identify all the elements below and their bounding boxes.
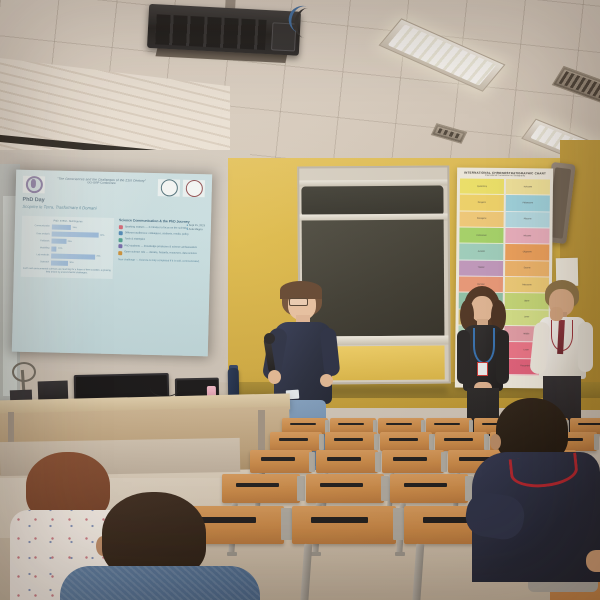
hair-top [280, 281, 322, 299]
hand-right [320, 374, 333, 387]
lanyard [473, 328, 495, 364]
audience-front-center [60, 492, 260, 600]
seat-desk-panel [292, 506, 396, 544]
seat-desk-slot [236, 483, 279, 488]
seat-desk-slot [311, 517, 368, 523]
seat-desk-panel [306, 474, 384, 503]
projector-body [147, 4, 301, 56]
denim-texture [60, 566, 260, 600]
seat-bracket [309, 452, 315, 472]
seat-bracket [441, 452, 447, 472]
poster-period-cell: Miocene [505, 228, 549, 245]
lecture-hall-photo: "The Geosciences and the Challenges of t… [0, 0, 600, 600]
seat-desk-slot [386, 423, 411, 426]
projection-screen: "The Geosciences and the Challenges of t… [12, 170, 212, 357]
hand [550, 307, 563, 321]
arm-left [457, 330, 470, 384]
seat-bracket [319, 434, 324, 450]
poster-period-cell: Cretaceous [459, 228, 503, 245]
ceiling-projector [147, 0, 310, 60]
ear [490, 434, 501, 450]
seat-desk-panel [390, 474, 468, 503]
poster-period-cell: Oligocene [505, 244, 549, 261]
poster-period-cell: Neogene [460, 195, 504, 212]
seat-desk-slot [261, 457, 295, 461]
hand-left [268, 370, 281, 384]
seat-bracket [381, 476, 389, 501]
arm-right [496, 330, 509, 384]
seat-bracket [375, 452, 381, 472]
hand [586, 550, 600, 572]
seat-desk-slot [290, 423, 315, 426]
seat-desk-slot [404, 483, 447, 488]
glasses-icon [289, 298, 308, 306]
seat-desk-slot [338, 423, 363, 426]
poster-period-cell: Triassic [459, 260, 503, 277]
arm-right [578, 322, 593, 372]
poster-period-cell: Eocene [505, 261, 549, 278]
chalkboard-panel-upper [301, 186, 443, 217]
seat-bracket [281, 508, 292, 540]
poster-period-cell: Pleistocene [506, 195, 550, 212]
seat-desk-panel [316, 450, 378, 473]
seat-desk-panel [270, 432, 322, 451]
audience-right [468, 398, 600, 600]
seat-desk-panel [325, 432, 377, 451]
seat-desk-slot [279, 438, 308, 441]
poster-period-cell: Holocene [506, 179, 550, 196]
seat-desk-panel [380, 432, 432, 451]
desk-cable [150, 378, 180, 397]
poster-period-cell: Quaternary [460, 179, 504, 196]
seat-desk-slot [434, 423, 459, 426]
poster-period-cell: Pliocene [506, 212, 550, 229]
poster-period-cell: Paleogene [460, 211, 504, 228]
screen-glare [12, 170, 212, 357]
seat-desk-slot [334, 438, 363, 441]
seat-bracket [374, 434, 379, 450]
seat-desk-panel [250, 450, 312, 473]
seat-desk-slot [327, 457, 361, 461]
seat-desk-slot [389, 438, 418, 441]
seat-desk-slot [393, 457, 427, 461]
projector-vents [155, 14, 266, 50]
seat-foot [311, 552, 321, 556]
seat-bracket [429, 434, 434, 450]
badge [477, 362, 488, 376]
seat-bracket [393, 508, 404, 540]
seat-desk-panel [382, 450, 444, 473]
seat-bracket [297, 476, 305, 501]
seat-desk-slot [320, 483, 363, 488]
seat-foot [395, 552, 405, 556]
poster-period-cell: Jurassic [459, 244, 503, 261]
microphone-head [264, 333, 275, 344]
